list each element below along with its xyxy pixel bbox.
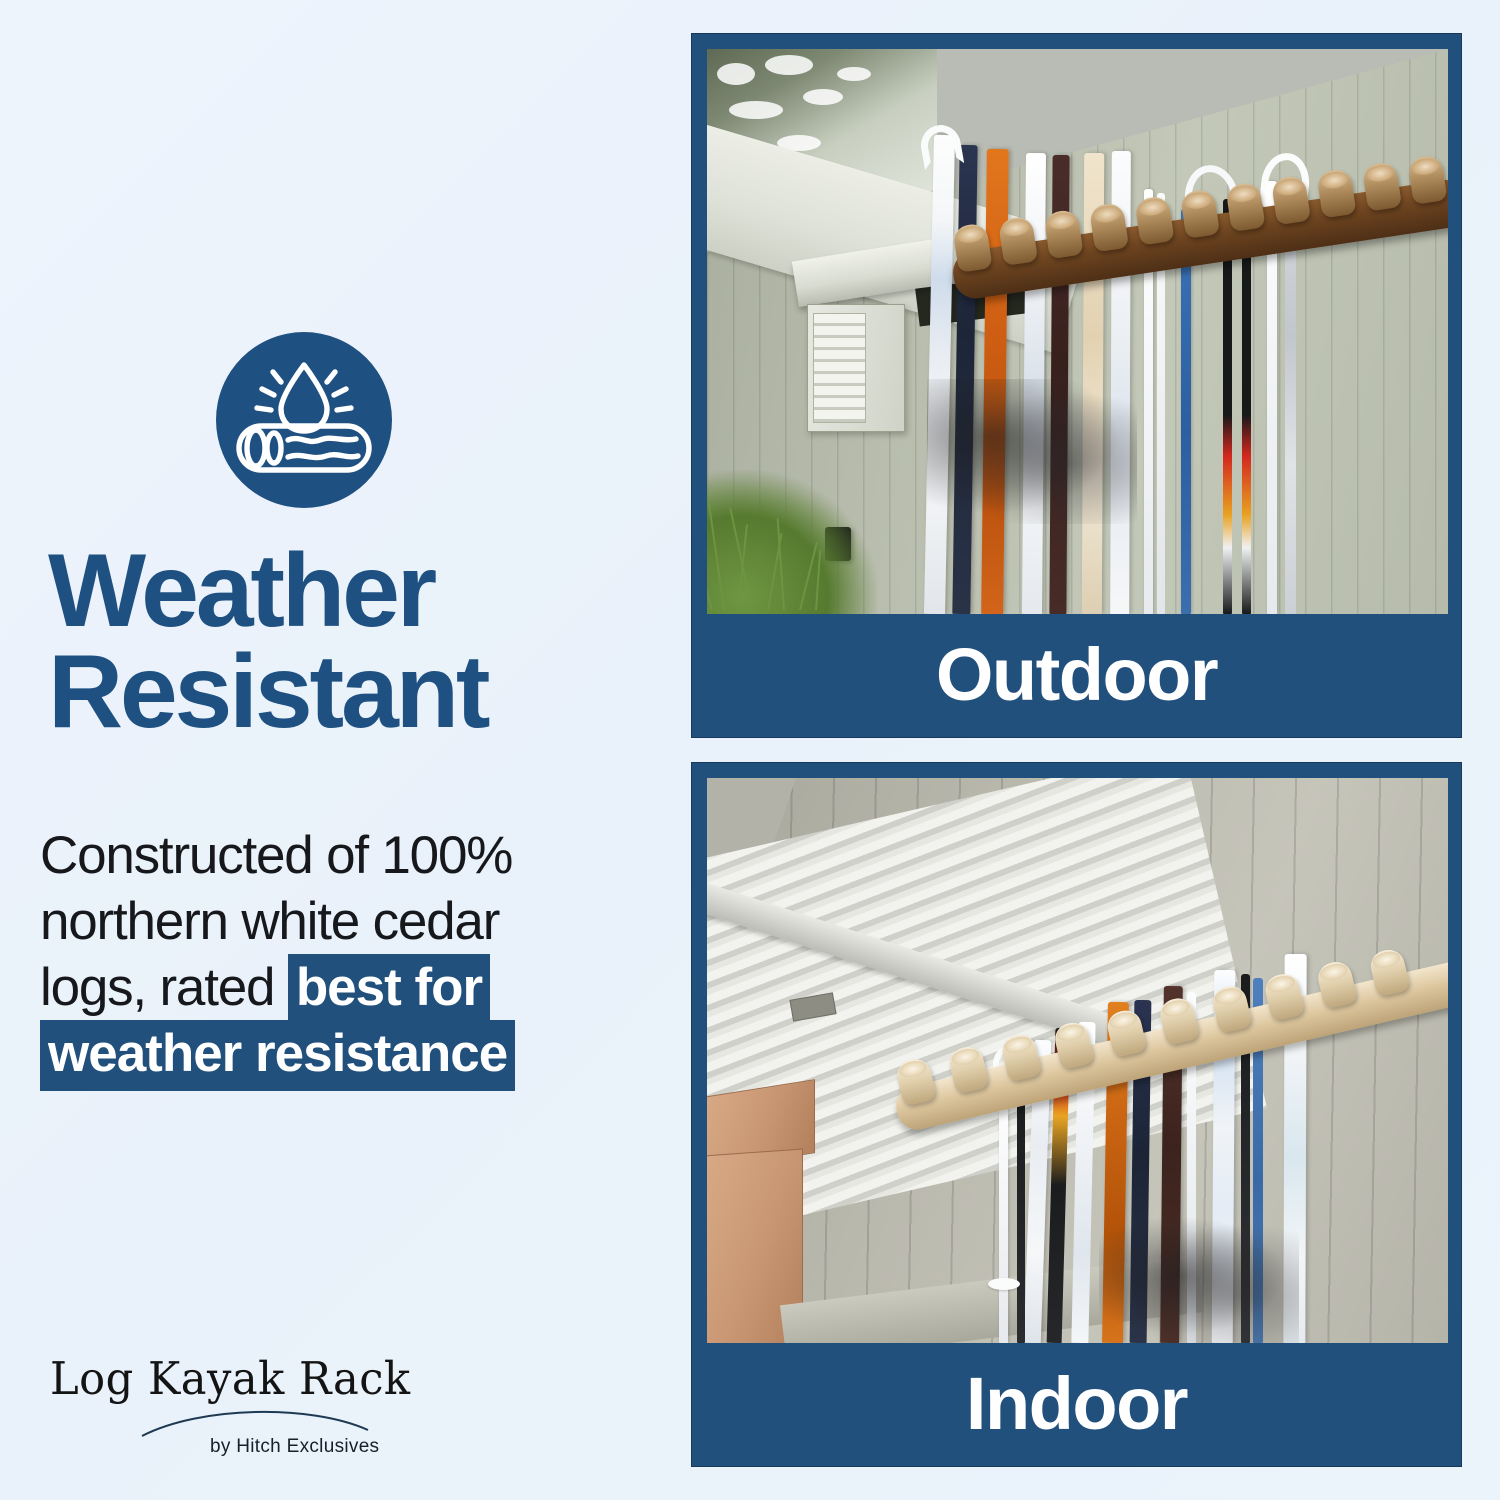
indoor-photo (707, 778, 1448, 1343)
pole-basket-white (988, 1278, 1020, 1290)
body-highlight-1: best for (288, 954, 490, 1025)
rack-peg (998, 215, 1038, 266)
ski-bindings-cluster-indoor (1099, 1208, 1299, 1343)
outdoor-scene (707, 49, 1448, 614)
left-content-column: Weather Resistant Constructed of 100% no… (0, 0, 665, 1500)
water-drop-on-log-icon (216, 332, 392, 508)
body-highlight-2: weather resistance (40, 1020, 515, 1091)
outdoor-caption: Outdoor (692, 612, 1461, 737)
rack-peg (1225, 181, 1265, 232)
ski-bindings-cluster (927, 379, 1137, 524)
headline-line-1: Weather (48, 541, 658, 642)
brand-logo: Log Kayak Rack by Hitch Exclusives (50, 1352, 370, 1464)
product-feature-card: Weather Resistant Constructed of 100% no… (0, 0, 1500, 1500)
body-line-2: northern white cedar (40, 890, 640, 954)
rack-peg (1407, 154, 1447, 205)
rack-peg (1362, 161, 1402, 212)
outdoor-photo (707, 49, 1448, 614)
rack-peg (1089, 202, 1129, 253)
logo-arc-decoration (140, 1404, 370, 1438)
brand-tagline: by Hitch Exclusives (210, 1436, 379, 1458)
rack-peg (1271, 175, 1311, 226)
brand-name: Log Kayak Rack (50, 1352, 357, 1405)
body-line-1: Constructed of 100% (40, 824, 640, 888)
wall-vent (807, 304, 905, 432)
rack-peg (1180, 188, 1220, 239)
body-line-3-plain: logs, rated (40, 958, 288, 1017)
outdoor-panel: Outdoor (691, 33, 1462, 738)
page-title: Weather Resistant (48, 541, 658, 743)
indoor-scene (707, 778, 1448, 1343)
body-description: Constructed of 100% northern white cedar… (40, 824, 640, 1089)
rack-peg (952, 222, 992, 273)
headline-line-2: Resistant (48, 642, 658, 743)
body-line-4: weather resistance (40, 1022, 640, 1086)
rack-peg (1043, 209, 1083, 260)
indoor-panel: Indoor (691, 762, 1462, 1467)
rack-peg (1316, 168, 1356, 219)
body-line-3: logs, rated best for (40, 956, 640, 1020)
grass-patch (707, 470, 877, 614)
weather-resistant-badge (216, 332, 392, 508)
indoor-caption: Indoor (692, 1341, 1461, 1466)
rack-peg (1134, 195, 1174, 246)
